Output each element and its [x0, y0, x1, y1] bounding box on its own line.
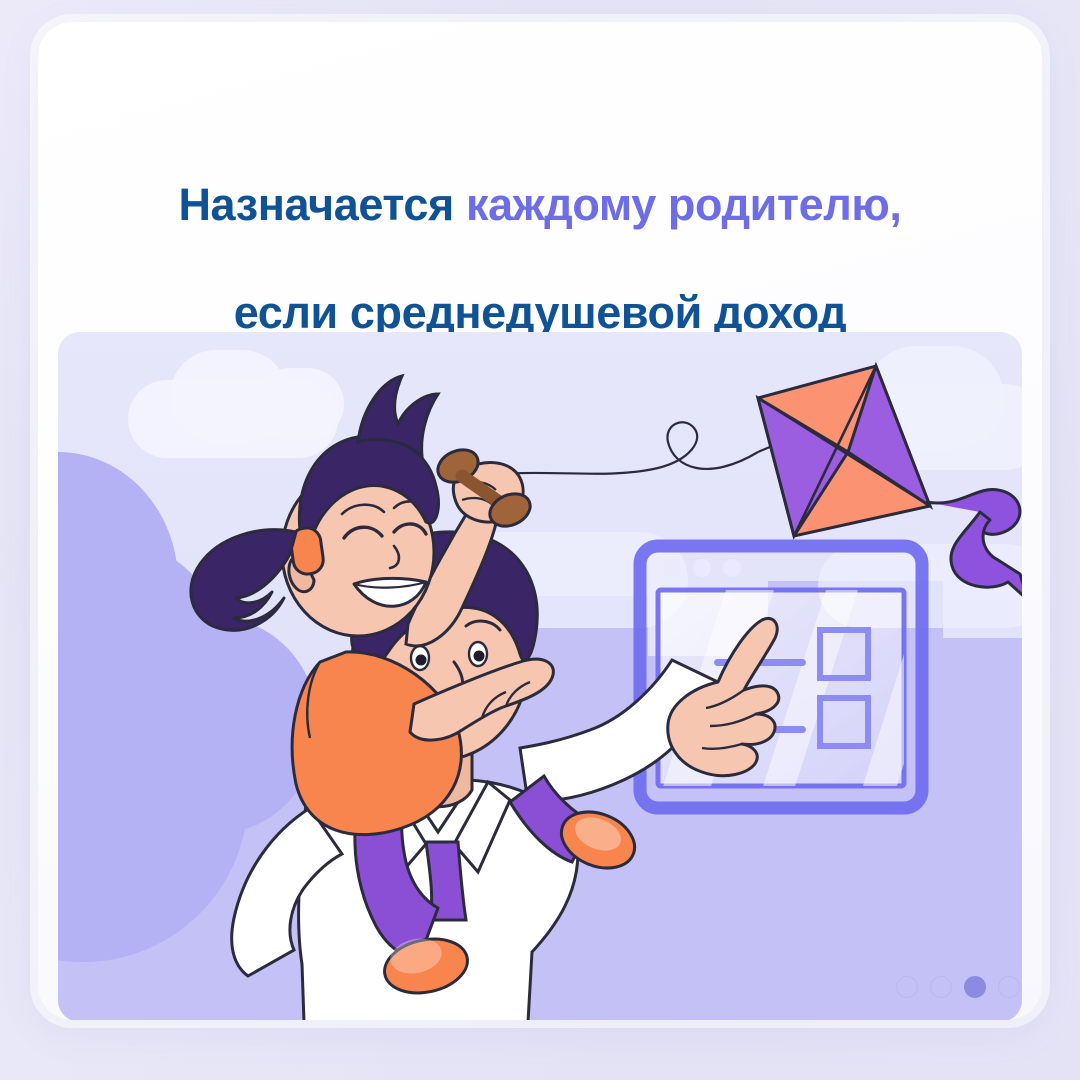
headline-line-1-prefix: Назначается [178, 179, 466, 230]
page-background: Назначается каждому родителю, если средн… [0, 0, 1080, 1080]
window-dot-icon [693, 559, 711, 577]
illustration-art [58, 332, 1022, 1020]
headline-accent-text: каждому родителю, [466, 179, 902, 230]
pagination-dot-1[interactable] [896, 976, 918, 998]
headline-line-1: Назначается каждому родителю, [68, 178, 1012, 232]
window-dot-icon [723, 559, 741, 577]
pagination-dots[interactable] [896, 976, 1020, 998]
girl-ponytail [191, 530, 296, 631]
content-card: Назначается каждому родителю, если средн… [38, 22, 1042, 1020]
pagination-dot-3-active[interactable] [964, 976, 986, 998]
pagination-dot-2[interactable] [930, 976, 952, 998]
window-dot-icon [663, 559, 681, 577]
pagination-dot-4[interactable] [998, 976, 1020, 998]
kite-icon [758, 366, 1022, 600]
illustration-panel [58, 332, 1022, 1020]
